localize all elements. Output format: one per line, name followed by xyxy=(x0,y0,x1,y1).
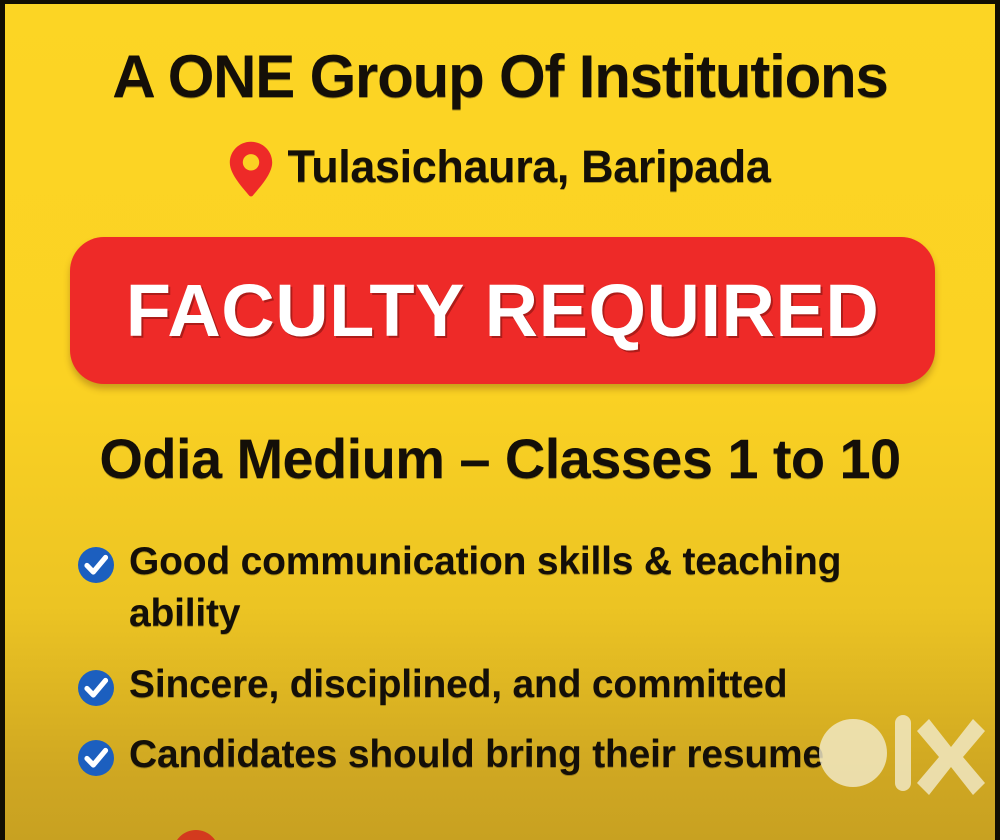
banner-text: FACULTY REQUIRED xyxy=(126,268,880,353)
map-pin-icon xyxy=(229,141,273,197)
location-text: Tulasichaura, Baripada xyxy=(287,141,770,193)
check-circle-icon xyxy=(77,669,115,707)
list-item: Good communication skills & teaching abi… xyxy=(77,536,955,641)
location-row: Tulasichaura, Baripada xyxy=(5,137,995,197)
list-item: Sincere, disciplined, and committed xyxy=(77,659,955,711)
phone-icon-partial xyxy=(173,830,219,840)
faculty-required-banner: FACULTY REQUIRED xyxy=(70,237,935,384)
job-advertisement-poster: A ONE Group Of Institutions Tulasichaura… xyxy=(0,0,1000,840)
requirement-text: Sincere, disciplined, and committed xyxy=(129,659,787,711)
check-circle-icon xyxy=(77,546,115,584)
requirement-text: Good communication skills & teaching abi… xyxy=(129,536,955,641)
requirements-list: Good communication skills & teaching abi… xyxy=(77,536,955,799)
list-item: Candidates should bring their resume xyxy=(77,729,955,781)
organisation-title: A ONE Group Of Institutions xyxy=(5,42,995,111)
flyer-surface: A ONE Group Of Institutions Tulasichaura… xyxy=(5,4,995,840)
medium-and-classes-subtitle: Odia Medium – Classes 1 to 10 xyxy=(5,426,995,491)
requirement-text: Candidates should bring their resume xyxy=(129,729,824,781)
check-circle-icon xyxy=(77,739,115,777)
